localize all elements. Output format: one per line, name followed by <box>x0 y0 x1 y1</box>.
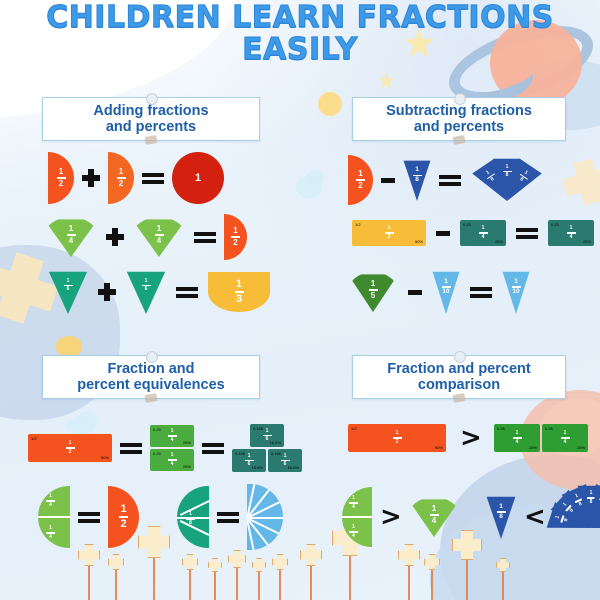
wedge-shape: 15 <box>348 272 398 312</box>
pin-icon <box>454 93 466 105</box>
operator-greater: > <box>460 428 480 448</box>
fraction-denominator: 4 <box>69 237 73 245</box>
operator-equals <box>194 232 216 243</box>
fraction-numerator: 1 <box>233 227 237 235</box>
wedge-shape: 14 <box>132 217 186 257</box>
flower-icon <box>108 554 124 570</box>
fraction-denominator: 6 <box>67 287 70 292</box>
header-line-2: comparison <box>387 377 530 393</box>
equals-bar <box>202 443 224 447</box>
fraction-denominator: 3 <box>236 294 242 305</box>
cloud-icon <box>306 170 324 186</box>
tape-icon <box>452 393 465 403</box>
bar-shape: 0.2525%14 <box>548 220 594 246</box>
operator-plus <box>98 283 116 301</box>
fraction-label: 14 <box>349 496 358 510</box>
fraction-label: 14 <box>168 429 177 443</box>
split-line <box>342 516 372 518</box>
fraction-label: 110 <box>512 279 521 296</box>
percent-bottom-right: 50% <box>101 455 109 460</box>
half-split-shape <box>247 484 283 550</box>
fraction-numerator: 1 <box>415 167 419 174</box>
fraction-denominator: 6 <box>284 462 287 467</box>
section-header-adding: Adding fractions and percents <box>42 97 260 141</box>
fraction-numerator: 1 <box>157 225 161 233</box>
equals-bar <box>194 239 216 243</box>
bar-stack: 0.16616.6%160.16616.6%160.16616.6%16 <box>232 424 302 472</box>
fraction-numerator: 1 <box>69 441 72 446</box>
header-line-1: Fraction and <box>77 361 225 377</box>
percent-top-left: 0.25 <box>551 222 559 227</box>
wedge-shape: 110 <box>502 270 530 314</box>
operator-equals <box>176 287 198 298</box>
pin-icon <box>146 93 158 105</box>
fraction-numerator: 1 <box>119 168 123 176</box>
equals-bar <box>176 287 198 291</box>
fraction-numerator: 1 <box>284 454 287 459</box>
fraction-label: 18 <box>413 167 422 184</box>
fraction-numerator: 1 <box>171 429 174 434</box>
bar-shape: 0.2525%14 <box>542 424 588 452</box>
fraction-denominator: 2 <box>358 182 362 190</box>
fraction-denominator: 6 <box>145 287 148 292</box>
fraction-denominator: 8 <box>189 521 192 526</box>
equation-row: 12121 <box>48 152 224 204</box>
bar-shape: 0.2525%14 <box>494 424 540 452</box>
plus-bar <box>112 228 118 246</box>
minus-bar <box>436 231 450 236</box>
fraction-numerator: 1 <box>171 453 174 458</box>
fraction-numerator: 1 <box>266 429 269 434</box>
percent-bottom-right: 25% <box>183 440 191 445</box>
sun-icon <box>56 336 82 356</box>
fraction-denominator: 4 <box>171 462 174 467</box>
fraction-numerator: 1 <box>444 279 448 286</box>
percent-top-left: 0.25 <box>153 427 161 432</box>
fraction-numerator: 1 <box>506 165 509 170</box>
fraction-numerator: 1 <box>49 494 52 499</box>
fraction-numerator: 1 <box>67 279 70 284</box>
fraction-numerator: 1 <box>69 225 73 233</box>
bar-shape: 1/250%12 <box>352 220 426 246</box>
fraction-numerator: 1 <box>236 279 242 290</box>
fraction-whole: 1 <box>195 173 201 184</box>
equals-bar <box>78 519 100 523</box>
wide-wedge-shape: 13 <box>208 272 270 312</box>
plus-bar <box>104 283 110 301</box>
split-line <box>38 516 70 518</box>
fraction-label: 12 <box>356 170 365 190</box>
cloud-icon <box>296 176 322 198</box>
equals-bar <box>516 228 538 232</box>
fraction-denominator: 8 <box>518 177 523 183</box>
minus-bar <box>381 178 395 183</box>
percent-bottom-right: 25% <box>583 239 591 244</box>
half-circle-shape: 12 <box>108 486 139 548</box>
flower-icon <box>182 554 198 570</box>
operator-plus <box>106 228 124 246</box>
percent-bottom-right: 25% <box>577 445 585 450</box>
page-title: CHILDREN LEARN FRACTIONS EASILY <box>0 2 600 66</box>
fraction-label: 14 <box>479 226 488 240</box>
operator-equals <box>120 443 142 454</box>
poster-canvas: CHILDREN LEARN FRACTIONS EASILY Adding f… <box>0 0 600 600</box>
fraction-numerator: 1 <box>432 505 436 513</box>
bar-shape: 0.16616.6%16 <box>232 449 266 472</box>
equals-bar <box>142 173 164 177</box>
flower-icon <box>228 550 246 568</box>
section-header-equivalences: Fraction and percent equivalences <box>42 355 260 399</box>
fraction-numerator: 1 <box>514 279 518 286</box>
operator-equals <box>470 287 492 298</box>
fraction-denominator: 2 <box>233 239 237 247</box>
bar-shape: 0.2525%14 <box>150 449 194 471</box>
flower-stem <box>236 564 238 600</box>
sun-icon <box>318 92 342 116</box>
fraction-denominator: 8 <box>563 518 569 522</box>
percent-top-left: 0.25 <box>463 222 471 227</box>
half-circle-shape: 12 <box>224 214 247 260</box>
fraction-denominator: 2 <box>119 180 123 188</box>
bar-shape: 1/250%12 <box>348 424 446 452</box>
fraction-numerator: 1 <box>189 512 192 517</box>
fraction-denominator: 2 <box>120 519 126 530</box>
equals-bar <box>439 175 461 179</box>
fraction-denominator: 8 <box>569 508 575 513</box>
flower-stem <box>115 566 117 600</box>
bar-shape: 0.2525%14 <box>150 425 194 447</box>
fraction-label: 14 <box>67 225 76 245</box>
fraction-denominator: 4 <box>432 517 436 525</box>
fraction-denominator: 2 <box>69 450 72 455</box>
fraction-label: 18 <box>186 512 195 526</box>
flower-stem <box>189 566 191 600</box>
wedge-shape: 14 <box>44 217 98 257</box>
section-header-comparison: Fraction and percent comparison <box>352 355 566 399</box>
flower-icon <box>424 554 440 570</box>
percent-top-left: 1/2 <box>31 436 37 441</box>
wedge-shape: 18 <box>403 159 431 201</box>
flower-stem <box>502 568 504 600</box>
operator-greater: > <box>380 507 400 527</box>
fraction-numerator: 1 <box>371 280 375 288</box>
wedge-shape: 110 <box>432 270 460 314</box>
flower-stem <box>153 554 155 600</box>
operator-minus <box>381 178 395 183</box>
flower-stem <box>214 568 216 600</box>
fraction-numerator: 1 <box>388 226 391 231</box>
fraction-label: 14 <box>561 431 570 445</box>
equation-row: 1/250%12>0.2525%140.2525%14 <box>348 424 588 452</box>
percent-bottom-right: 50% <box>415 239 423 244</box>
fraction-denominator: 4 <box>570 235 573 240</box>
fraction-label: 12 <box>231 227 240 247</box>
fraction-label: 13 <box>235 279 244 305</box>
half-split-shape: 18 <box>177 486 209 548</box>
fraction-label: 14 <box>155 225 164 245</box>
fraction-denominator: 2 <box>396 440 399 445</box>
flower-stem <box>431 566 433 600</box>
fraction-label: 12 <box>393 431 402 445</box>
fraction-label: 14 <box>349 525 358 539</box>
section-header-subtracting: Subtracting fractions and percents <box>352 97 566 141</box>
equals-bar <box>78 512 100 516</box>
equation-row: 15110110 <box>348 270 530 314</box>
fraction-numerator: 1 <box>120 504 126 515</box>
fraction-denominator: 10 <box>512 289 519 296</box>
fraction-label: 12 <box>119 504 128 530</box>
equals-bar <box>120 450 142 454</box>
flower-icon <box>272 554 288 570</box>
wedge-shape: 18 <box>486 495 516 539</box>
bar-stack: 0.2525%140.2525%14 <box>150 425 194 471</box>
fraction-numerator: 1 <box>49 526 52 531</box>
plus-bar <box>88 169 94 187</box>
fraction-denominator: 2 <box>59 180 63 188</box>
percent-bottom-right: 16.6% <box>270 440 281 445</box>
header-line-2: and percents <box>93 119 208 135</box>
operator-equals <box>142 173 164 184</box>
equals-bar <box>217 512 239 516</box>
fraction-denominator: 2 <box>388 235 391 240</box>
fraction-denominator: 6 <box>266 437 269 442</box>
equation-row: 1/250%120.2525%140.2525%14 <box>352 220 594 246</box>
fraction-denominator: 4 <box>352 534 355 539</box>
equals-bar <box>470 294 492 298</box>
flower-icon <box>496 558 510 572</box>
fraction-numerator: 1 <box>482 226 485 231</box>
equation-row: 161613 <box>48 270 270 314</box>
header-line-2: percent equivalences <box>77 377 225 393</box>
fraction-label: 1 <box>195 173 201 184</box>
fraction-numerator: 1 <box>564 431 567 436</box>
fraction-denominator: 10 <box>442 289 449 296</box>
wedge-fan-shape: 181818 <box>469 157 545 203</box>
flower-stem <box>88 562 90 600</box>
fraction-label: 110 <box>442 279 451 296</box>
bar-shape: 0.16616.6%16 <box>268 449 302 472</box>
percent-top-left: 0.25 <box>497 426 505 431</box>
pin-icon <box>454 351 466 363</box>
percent-bottom-right: 50% <box>435 445 443 450</box>
half-circle-shape: 12 <box>108 152 134 204</box>
fraction-label: 12 <box>385 226 394 240</box>
fraction-label: 12 <box>66 441 75 455</box>
wedge-shape: 14 <box>408 497 460 537</box>
fraction-denominator: 6 <box>248 462 251 467</box>
fraction-numerator: 1 <box>352 525 355 530</box>
fraction-label: 16 <box>142 279 151 293</box>
fraction-denominator: 8 <box>590 500 593 505</box>
fraction-denominator: 4 <box>49 535 52 540</box>
fraction-numerator: 1 <box>145 279 148 284</box>
fraction-denominator: 8 <box>506 173 509 178</box>
wedge-shape: 16 <box>126 270 166 314</box>
fraction-numerator: 1 <box>352 496 355 501</box>
fraction-denominator: 4 <box>564 440 567 445</box>
flower-stem <box>349 552 351 600</box>
pin-icon <box>146 351 158 363</box>
percent-bottom-right: 25% <box>529 445 537 450</box>
fraction-numerator: 1 <box>570 226 573 231</box>
minus-bar <box>408 290 422 295</box>
flower-icon <box>252 558 266 572</box>
header-line-1: Fraction and percent <box>387 361 530 377</box>
tape-icon <box>452 135 465 145</box>
bar-pair: 0.2525%140.2525%14 <box>494 424 588 452</box>
operator-equals <box>78 512 100 523</box>
fraction-label: 14 <box>430 505 439 525</box>
header-line-1: Adding fractions <box>93 103 208 119</box>
fraction-denominator: 8 <box>490 177 495 183</box>
fraction-numerator: 1 <box>516 431 519 436</box>
operator-equals <box>516 228 538 239</box>
equals-bar <box>202 450 224 454</box>
header-line-1: Subtracting fractions <box>386 103 532 119</box>
half-split-shape: 1414 <box>342 487 372 547</box>
equals-bar <box>120 443 142 447</box>
flower-stem <box>310 562 312 600</box>
fraction-label: 16 <box>64 279 73 293</box>
fraction-label: 12 <box>117 168 126 188</box>
fraction-denominator: 4 <box>516 440 519 445</box>
fraction-label: 14 <box>46 526 55 540</box>
fraction-numerator: 1 <box>358 170 362 178</box>
flower-icon <box>300 544 322 566</box>
equation-row: 141412 <box>44 214 247 260</box>
tape-icon <box>144 393 157 403</box>
fraction-label: 12 <box>57 168 66 188</box>
bar-shape: 0.2525%14 <box>460 220 506 246</box>
percent-top-left: 1/2 <box>351 426 357 431</box>
percent-top-left: 0.25 <box>545 426 553 431</box>
equals-bar <box>439 182 461 186</box>
flower-stem <box>408 562 410 600</box>
operator-equals <box>439 175 461 186</box>
fraction-denominator: 4 <box>482 235 485 240</box>
fraction-numerator: 1 <box>396 431 399 436</box>
split-line <box>247 517 283 519</box>
operator-plus <box>82 169 100 187</box>
equation-row: 14141218 <box>38 484 283 550</box>
wedge-shape: 16 <box>48 270 88 314</box>
equals-bar <box>516 235 538 239</box>
percent-bottom-right: 16.6% <box>288 465 299 470</box>
circle-shape: 1 <box>172 152 224 204</box>
fraction-numerator: 1 <box>523 170 528 176</box>
percent-top-left: 1/2 <box>355 222 361 227</box>
fraction-label: 14 <box>168 453 177 467</box>
percent-bottom-right: 16.6% <box>252 465 263 470</box>
wedge-fan-large-shape: 18181818181818 <box>552 482 600 552</box>
fraction-label: 14 <box>46 494 55 508</box>
fraction-denominator: 5 <box>371 292 375 300</box>
equals-bar <box>470 287 492 291</box>
fraction-label: 15 <box>369 280 378 300</box>
fraction-denominator: 8 <box>415 177 419 184</box>
operator-equals <box>217 512 239 523</box>
percent-bottom-right: 25% <box>495 239 503 244</box>
flower-icon <box>208 558 222 572</box>
tape-icon <box>144 135 157 145</box>
equals-bar <box>217 519 239 523</box>
fraction-numerator: 1 <box>59 168 63 176</box>
half-circle-shape: 12 <box>48 152 74 204</box>
fraction-numerator: 1 <box>499 504 503 511</box>
half-split-shape: 1414 <box>38 486 70 548</box>
equation-row: 1218181818 <box>348 155 545 205</box>
bar-shape: 0.16616.6%16 <box>250 424 284 447</box>
fraction-denominator: 4 <box>352 505 355 510</box>
flower-stem <box>466 556 468 600</box>
bar-shape: 1/250%12 <box>28 434 112 462</box>
flower-stem <box>258 568 260 600</box>
fraction-label: 14 <box>567 226 576 240</box>
fraction-denominator: 4 <box>157 237 161 245</box>
fraction-numerator: 1 <box>590 491 593 496</box>
star-icon <box>378 72 395 89</box>
fraction-denominator: 4 <box>171 438 174 443</box>
flower-stem <box>279 566 281 600</box>
header-line-2: and percents <box>386 119 532 135</box>
fraction-label: 14 <box>513 431 522 445</box>
fraction-denominator: 8 <box>499 514 503 521</box>
equation-row: 1414>1418<18181818181818 <box>342 482 600 552</box>
percent-bottom-right: 25% <box>183 464 191 469</box>
percent-top-left: 0.166 <box>271 451 281 456</box>
operator-equals <box>202 443 224 454</box>
pinwheel-icon <box>559 155 600 209</box>
fraction-denominator: 8 <box>578 501 583 507</box>
equals-bar <box>142 180 164 184</box>
half-circle-shape: 12 <box>348 155 373 205</box>
percent-top-left: 0.25 <box>153 451 161 456</box>
fraction-denominator: 4 <box>49 503 52 508</box>
fraction-label: 18 <box>497 504 506 521</box>
equals-bar <box>194 232 216 236</box>
percent-top-left: 0.166 <box>253 426 263 431</box>
operator-minus <box>408 290 422 295</box>
operator-minus <box>436 231 450 236</box>
percent-top-left: 0.166 <box>235 451 245 456</box>
equals-bar <box>176 294 198 298</box>
equation-row: 1/250%120.2525%140.2525%140.16616.6%160.… <box>28 424 302 472</box>
fraction-numerator: 1 <box>248 454 251 459</box>
operator-less: < <box>524 507 544 527</box>
